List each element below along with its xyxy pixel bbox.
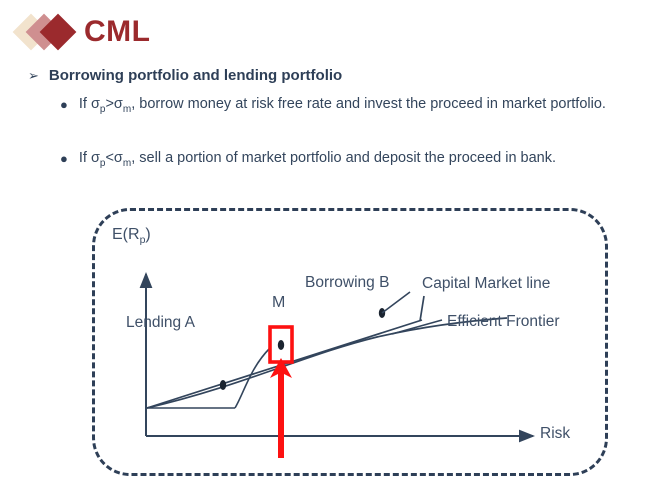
y-axis-label: E(Rp) [112,226,151,246]
diamond-stack-icon [18,12,82,52]
cml-diagram: E(Rp) Lending A M Borrowing B Capital Ma… [92,208,612,483]
b1-post: , borrow money at risk free rate and inv… [131,96,606,112]
point-marker-m [278,340,284,350]
b2-post: , sell a portion of market portfolio and… [131,150,556,166]
page-title: CML [84,17,150,47]
bullet-text-2: If σp<σm, sell a portion of market portf… [79,148,556,174]
red-up-arrow-icon [270,358,292,458]
b1-op: >σ [105,96,122,112]
arrow-bullet-icon: ➢ [28,66,39,85]
borrowing-leader-line [382,292,410,313]
dot-bullet-icon: ● [60,94,68,115]
point-marker-a [220,380,226,390]
heading-bullet-row: ➢ Borrowing portfolio and lending portfo… [28,66,628,85]
b1-pre: If σ [79,96,100,112]
y-axis-label-close: ) [145,226,150,243]
capital-market-line-label: Capital Market line [422,275,550,293]
list-item: ● If σp<σm, sell a portion of market por… [60,148,648,174]
borrowing-label: Borrowing B [305,274,389,292]
efficient-frontier-label: Efficient Frontier [447,313,560,331]
market-portfolio-label: M [272,294,285,312]
b2-op: <σ [105,150,122,166]
page-header: CML [18,12,150,52]
capital-market-line [147,320,422,408]
heading-text: Borrowing portfolio and lending portfoli… [49,66,342,85]
list-item: ● If σp>σm, borrow money at risk free ra… [60,94,648,120]
bullet-text-1: If σp>σm, borrow money at risk free rate… [79,94,606,120]
b1-sub2: m [123,104,131,115]
cml-chart-svg [92,208,608,483]
risk-axis-label: Risk [540,425,570,443]
lending-label: Lending A [126,314,195,332]
dot-bullet-icon: ● [60,148,68,169]
b2-pre: If σ [79,150,100,166]
efficient-frontier-curve [147,318,507,408]
b2-sub2: m [123,158,131,169]
y-axis-label-base: E(R [112,226,140,243]
capital-market-line-leader [420,296,424,321]
